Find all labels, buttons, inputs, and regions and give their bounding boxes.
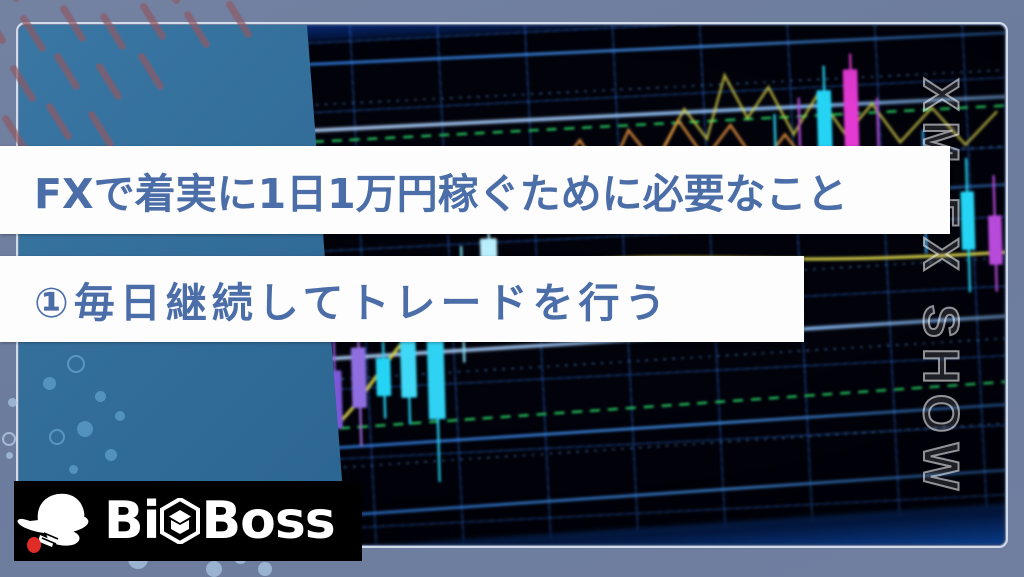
- logo-word-after: Boss: [201, 495, 334, 547]
- decor-dot: [258, 562, 272, 576]
- decor-dot-ring: [2, 432, 16, 446]
- decor-bubble: [105, 449, 117, 461]
- decor-bubble: [115, 411, 125, 421]
- decor-bubble: [69, 465, 78, 474]
- decor-bubble: [43, 377, 56, 390]
- candle-body: [376, 358, 392, 396]
- decor-dot: [6, 452, 13, 459]
- hexagon-g-mark-icon: [160, 498, 200, 544]
- candle-body: [988, 215, 1003, 265]
- candlestick: [375, 340, 392, 419]
- page-title-line-1: FXで着実に1日1万円稼ぐために必要なこと: [34, 160, 848, 220]
- detective-fedora-face-icon: [14, 485, 118, 557]
- candle-body: [843, 69, 860, 157]
- page-title-line-2: ①毎日継続してトレードを行う: [34, 269, 670, 329]
- title-banner-primary: FXで着実に1日1万円稼ぐために必要なこと: [0, 146, 950, 234]
- decor-bubble-ring: [67, 355, 85, 373]
- candle-body: [960, 191, 975, 250]
- bigboss-logo[interactable]: Bi Boss: [14, 481, 362, 561]
- decor-bubble-ring: [49, 429, 65, 445]
- thumbnail-canvas: 13 Apr 22:00 16 Apr 08:00 16 Apr 18:00 1…: [0, 0, 1024, 577]
- candle-body: [351, 347, 367, 408]
- decor-dot: [8, 398, 17, 407]
- bigboss-wordmark: Bi Boss: [104, 495, 335, 547]
- decor-dot: [206, 561, 222, 577]
- title-banner-secondary: ①毎日継続してトレードを行う: [0, 256, 804, 342]
- decor-bubble: [95, 391, 106, 402]
- decor-bubble: [77, 421, 93, 437]
